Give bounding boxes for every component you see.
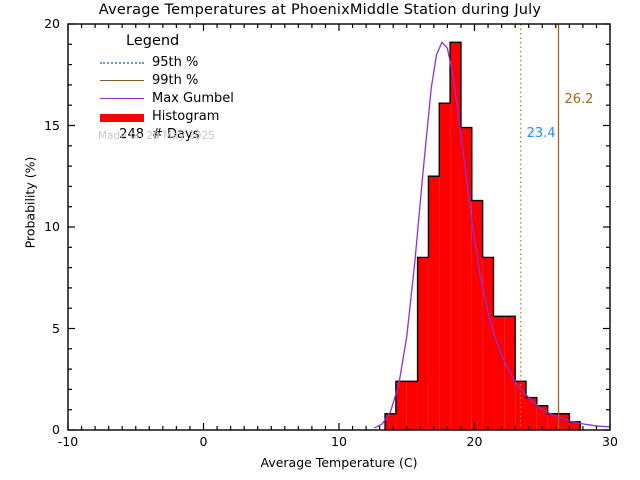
histogram-bar — [428, 176, 439, 430]
percentile-value-label-26.2: 26.2 — [565, 92, 594, 107]
histogram-bar — [483, 257, 494, 430]
legend-item-label: 95th % — [152, 55, 198, 70]
legend-title: Legend — [126, 33, 179, 49]
histogram-bar — [559, 414, 570, 430]
legend-swatch-icon — [100, 62, 144, 67]
y-tick-label: 20 — [20, 16, 60, 31]
histogram-bar — [493, 316, 504, 430]
legend-item-label: Histogram — [152, 109, 219, 124]
y-tick-label: 5 — [20, 321, 60, 336]
y-tick-label: 0 — [20, 422, 60, 437]
histogram-bar — [407, 381, 418, 430]
plot-frame — [68, 24, 610, 430]
legend-swatch-icon — [100, 80, 144, 84]
legend-swatch-icon — [100, 114, 144, 122]
x-tick-label: 0 — [174, 434, 234, 449]
histogram-bar — [418, 257, 429, 430]
chart-figure: Average Temperatures at PhoenixMiddle St… — [0, 0, 640, 480]
percentile-value-label-23.4: 23.4 — [527, 126, 556, 141]
plot-canvas — [0, 0, 640, 480]
y-tick-label: 15 — [20, 118, 60, 133]
histogram-bar — [526, 398, 537, 430]
y-tick-label: 10 — [20, 219, 60, 234]
legend-item-label: Max Gumbel — [152, 91, 234, 106]
histogram-bar — [450, 42, 461, 430]
watermark-text: Made on 29 May 2025 — [98, 130, 215, 142]
x-tick-label: 10 — [309, 434, 369, 449]
x-tick-label: 20 — [445, 434, 505, 449]
legend-item-label: 99th % — [152, 73, 198, 88]
x-axis-label: Average Temperature (C) — [68, 455, 610, 470]
histogram-bar — [385, 414, 396, 430]
x-tick-label: 30 — [580, 434, 640, 449]
legend-swatch-icon — [100, 98, 144, 102]
histogram-bar — [439, 103, 450, 430]
y-axis-label: Probability (%) — [23, 103, 38, 303]
